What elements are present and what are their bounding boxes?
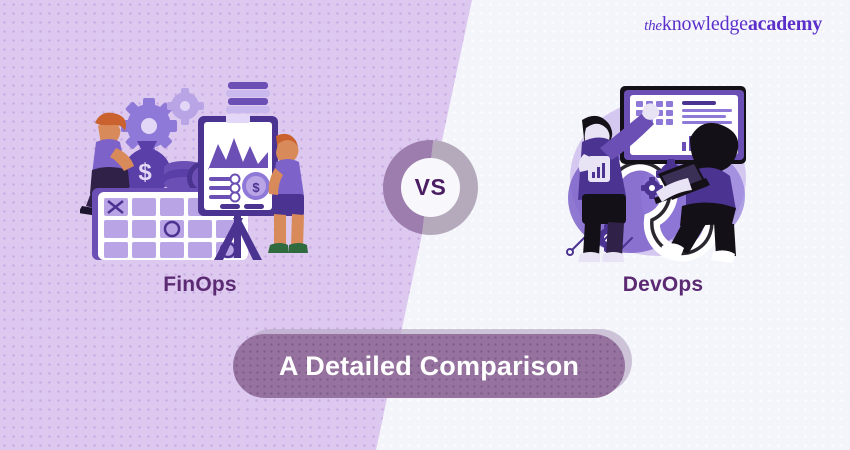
logo-part-knowledge: knowledge bbox=[662, 13, 748, 35]
banner-pill: A Detailed Comparison bbox=[233, 334, 625, 398]
svg-text:$: $ bbox=[252, 180, 260, 195]
devops-illustration bbox=[558, 78, 763, 263]
gear-icon-small bbox=[167, 88, 204, 125]
book-stack-icon bbox=[226, 82, 270, 113]
finops-illustration: $ $ bbox=[80, 78, 312, 263]
banner-title: A Detailed Comparison bbox=[279, 353, 579, 380]
banner-stage: $ $ bbox=[0, 0, 850, 450]
brand-logo[interactable]: theknowledgeacademy bbox=[644, 14, 822, 34]
devops-caption: DevOps bbox=[568, 274, 758, 295]
vs-label: VS bbox=[415, 176, 447, 199]
vs-badge: VS bbox=[383, 140, 478, 235]
finops-caption: FinOps bbox=[105, 274, 295, 295]
chart-card-icon bbox=[588, 156, 610, 182]
logo-part-academy: academy bbox=[748, 13, 822, 35]
svg-text:$: $ bbox=[138, 159, 152, 186]
logo-part-the: the bbox=[644, 18, 662, 34]
vs-badge-inner: VS bbox=[401, 158, 460, 217]
dollar-circle-icon: $ bbox=[242, 172, 270, 200]
